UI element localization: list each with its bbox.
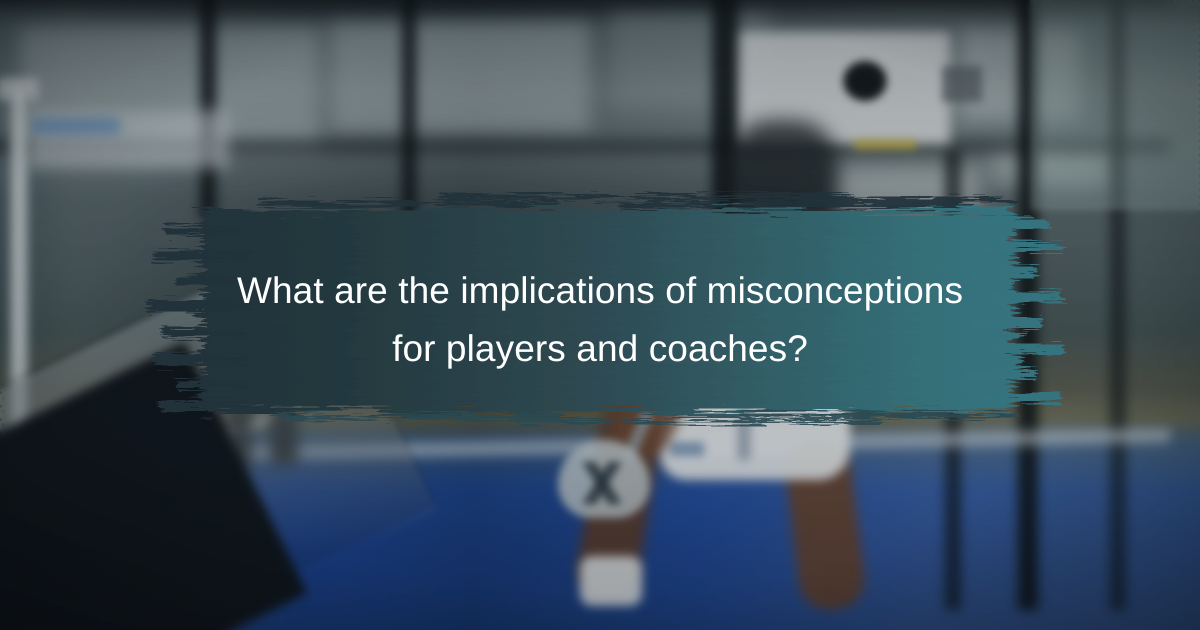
- social-card: What are the implications of misconcepti…: [0, 0, 1200, 630]
- headline-line-2: for players and coaches?: [170, 320, 1030, 378]
- headline: What are the implications of misconcepti…: [170, 262, 1030, 378]
- headline-line-1: What are the implications of misconcepti…: [170, 262, 1030, 320]
